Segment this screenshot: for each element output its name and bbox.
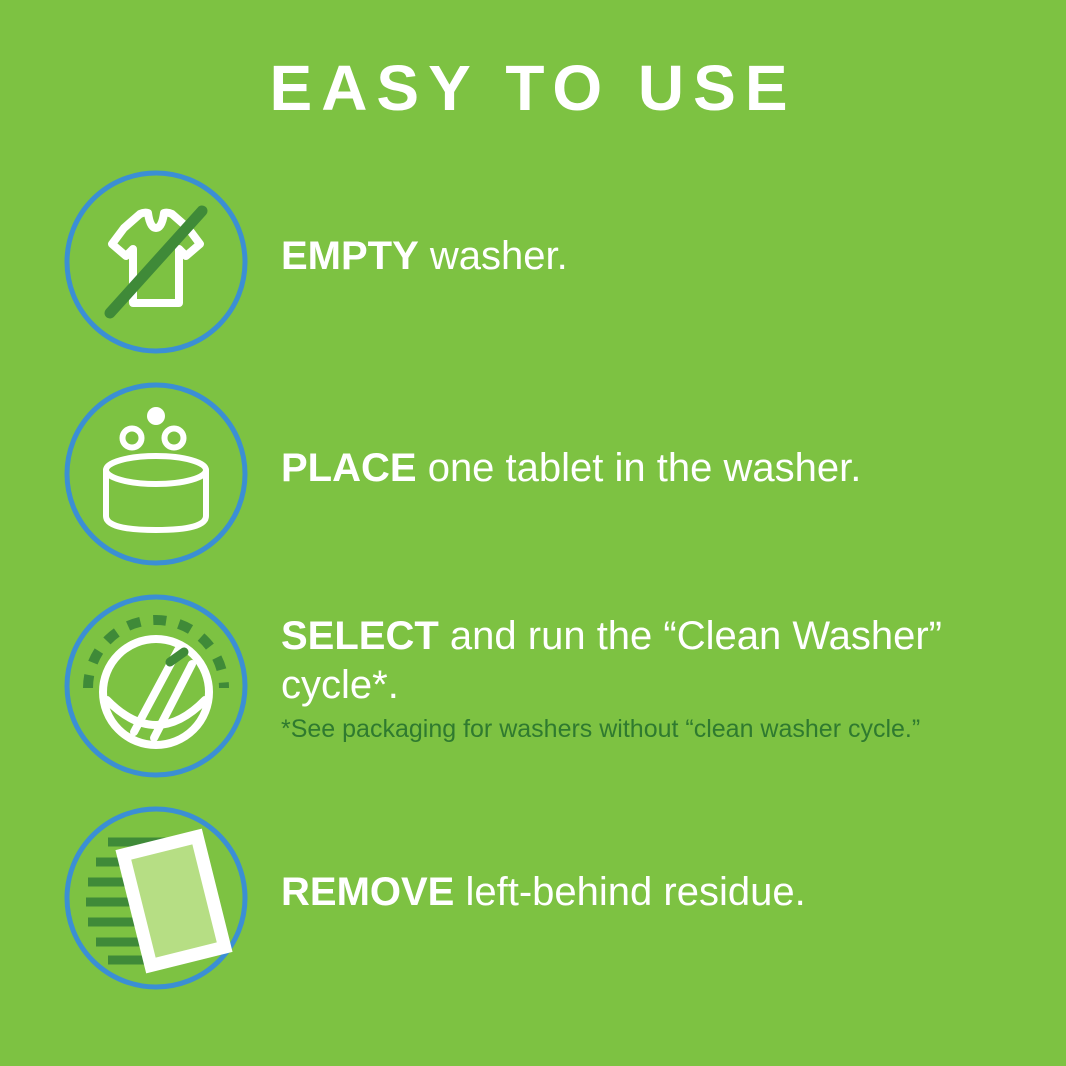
step-rest: washer. — [419, 234, 568, 278]
step-emphasis: PLACE — [281, 446, 417, 490]
step-item: EMPTY washer. — [0, 160, 1066, 372]
step-emphasis: EMPTY — [281, 234, 419, 278]
step-text: REMOVE left-behind residue. — [281, 868, 1041, 917]
step-emphasis: SELECT — [281, 614, 439, 658]
step-item: REMOVE left-behind residue. — [0, 796, 1066, 1008]
step-text: PLACE one tablet in the washer. — [281, 444, 1041, 493]
steps-list: EMPTY washer. PLACE one tablet in the wa… — [0, 160, 1066, 1008]
tablet-bubbles-icon — [62, 380, 250, 568]
step-line: REMOVE left-behind residue. — [281, 868, 1041, 917]
step-emphasis: REMOVE — [281, 870, 454, 914]
step-rest: one tablet in the washer. — [417, 446, 862, 490]
step-item: SELECT and run the “Clean Washer” cycle*… — [0, 584, 1066, 796]
empty-washer-shirt-icon — [62, 168, 250, 356]
step-line: SELECT and run the “Clean Washer” cycle*… — [281, 612, 1041, 710]
step-text: SELECT and run the “Clean Washer” cycle*… — [281, 612, 1041, 745]
page-title: EASY TO USE — [0, 56, 1066, 120]
washer-dial-tablet-icon — [62, 592, 250, 780]
wipe-residue-icon — [62, 804, 250, 992]
step-footnote: *See packaging for washers without “clea… — [281, 714, 1041, 745]
step-item: PLACE one tablet in the washer. — [0, 372, 1066, 584]
easy-to-use-infographic: EASY TO USE EMPTY washer. — [0, 0, 1066, 1066]
step-rest: left-behind residue. — [454, 870, 805, 914]
step-line: EMPTY washer. — [281, 232, 1041, 281]
step-text: EMPTY washer. — [281, 232, 1041, 281]
step-line: PLACE one tablet in the washer. — [281, 444, 1041, 493]
